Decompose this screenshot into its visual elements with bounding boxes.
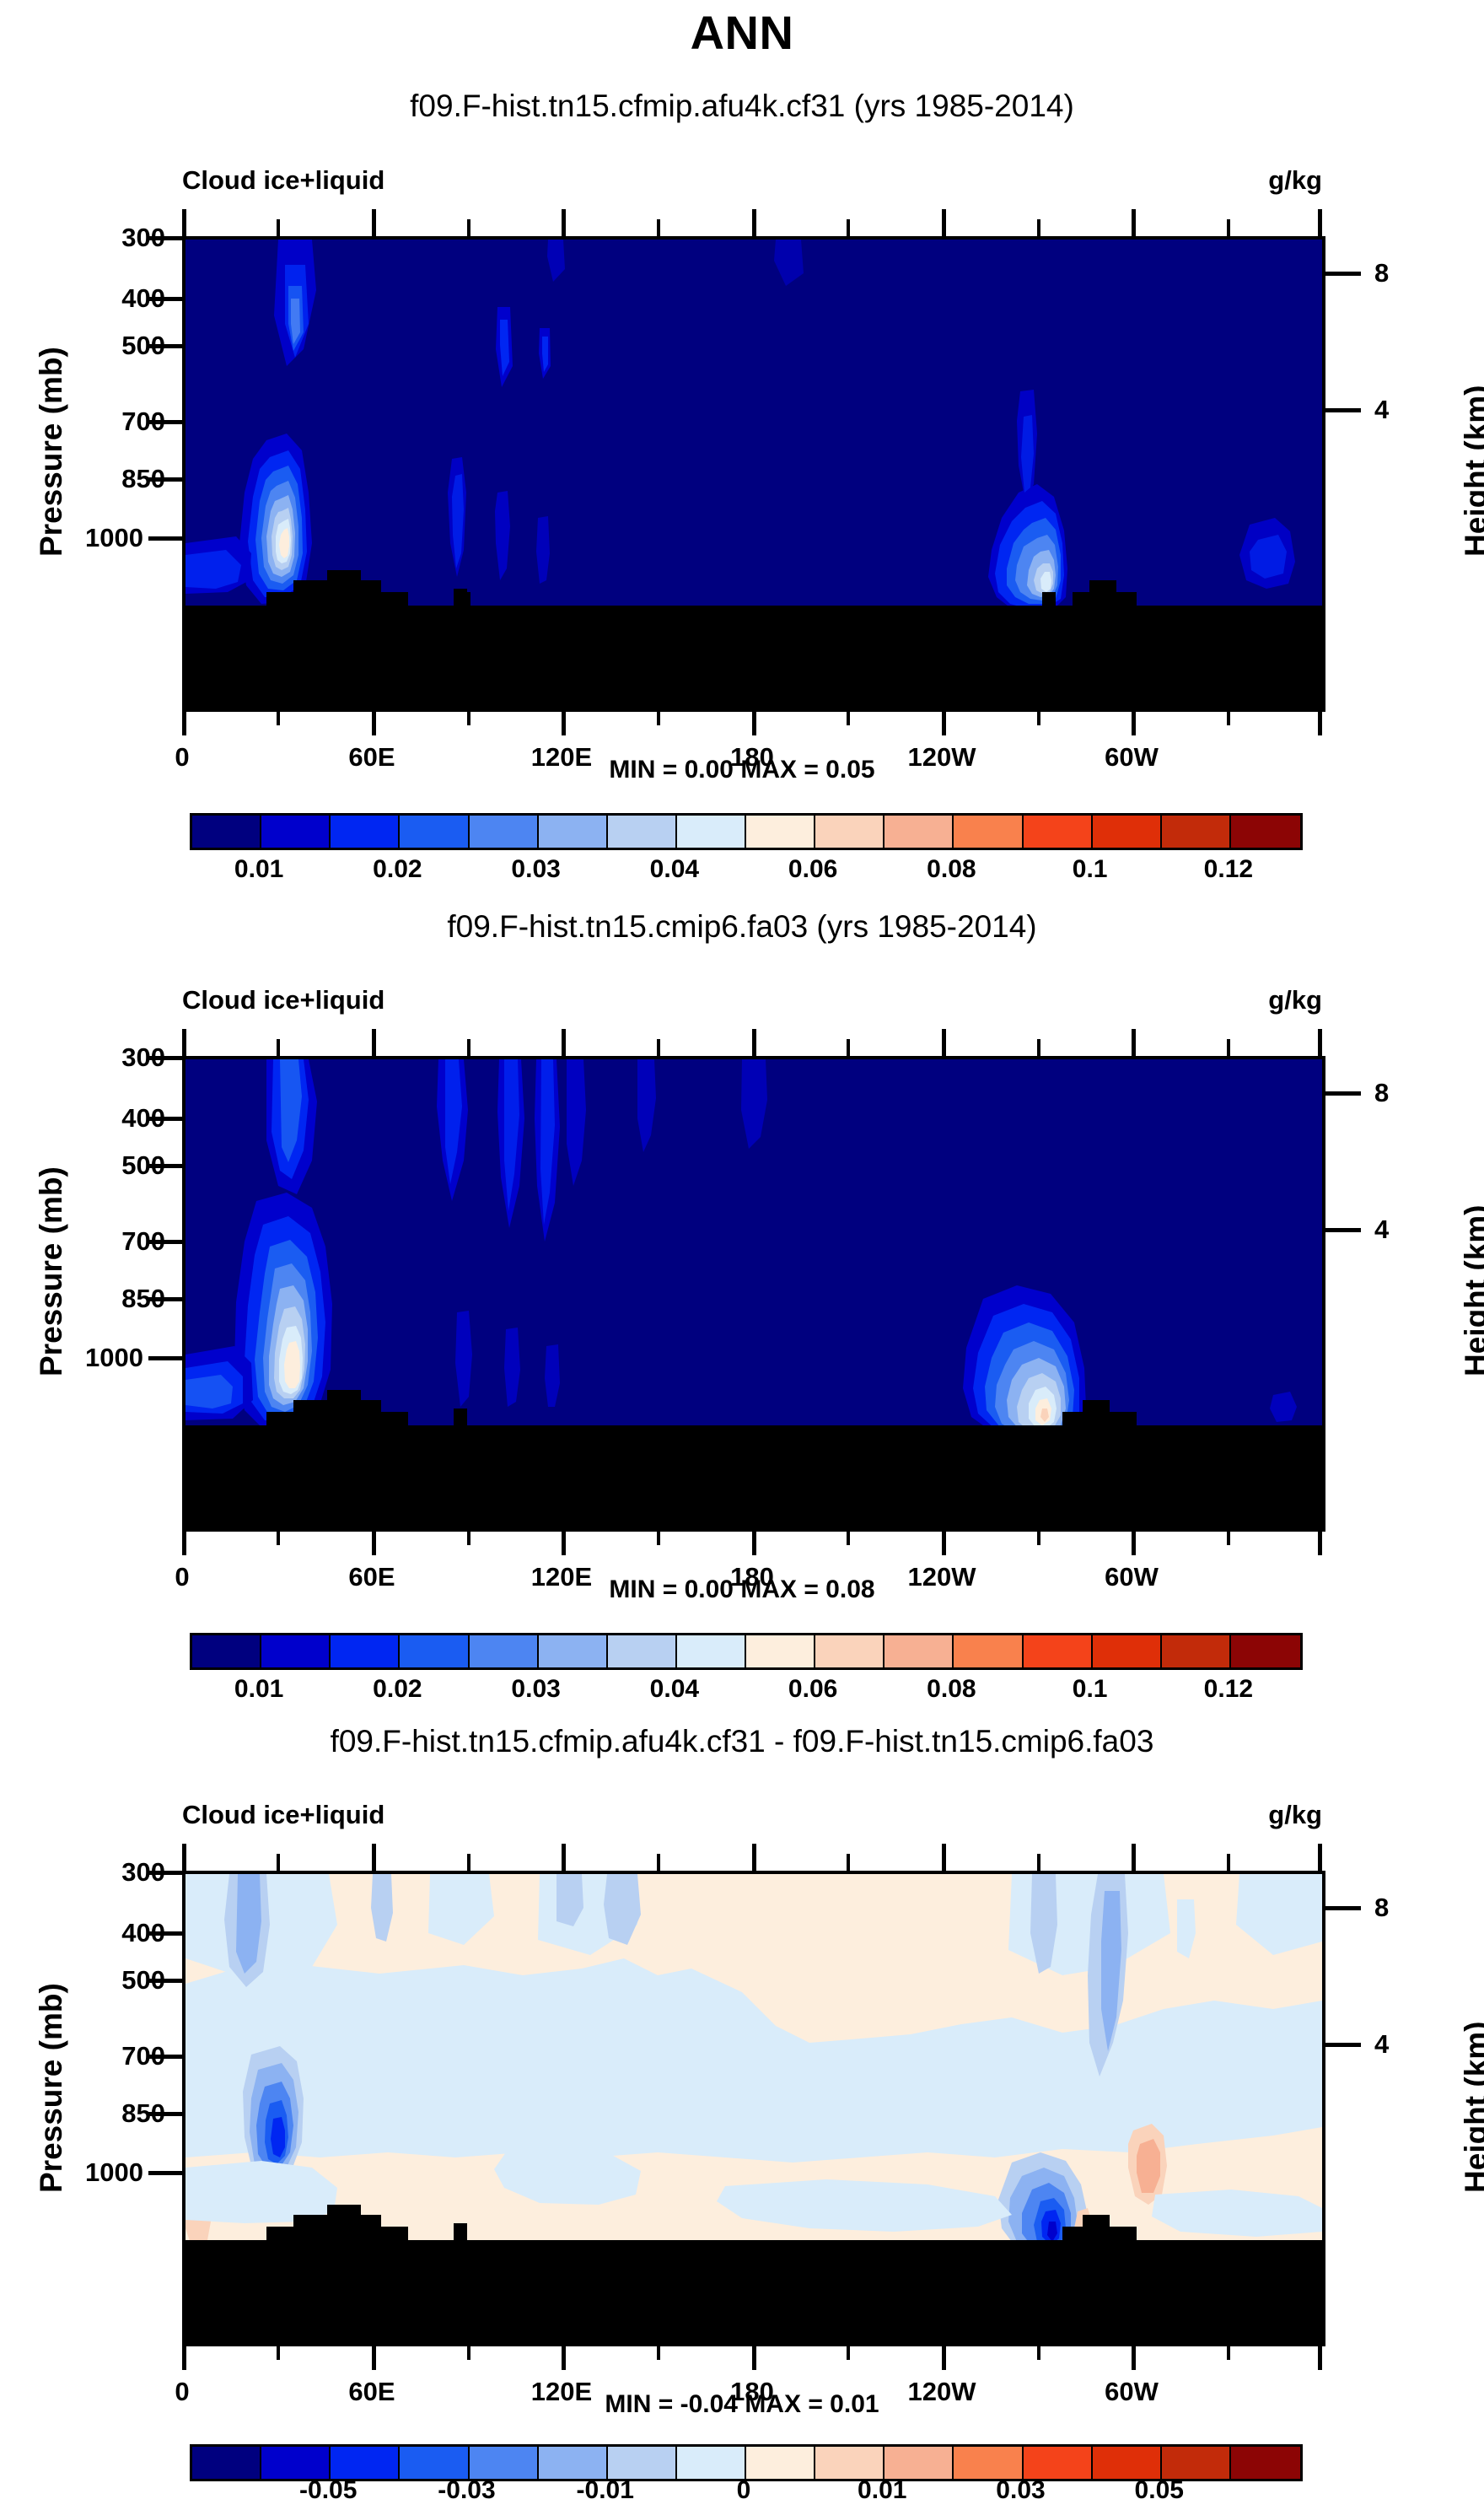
panel-2-ytick-height-4: 4	[1374, 1215, 1442, 1245]
panel-1-colorbar-swatch-14[interactable]	[1162, 816, 1231, 848]
panel-2-ytick-height-8: 8	[1374, 1078, 1442, 1108]
panel-1-minmax: MIN = 0.00 MAX = 0.05	[0, 756, 1484, 784]
panel-3-colorbar-labels: -0.05-0.03-0.0100.010.030.05	[0, 2476, 1484, 2510]
panel-1-ytick-1000: 1000	[51, 523, 143, 553]
panel-1-colorbar-tick-label: 0.03	[477, 855, 595, 884]
panel-3-colorbar-swatch-10[interactable]	[884, 2447, 954, 2479]
panel-2-colorbar-swatch-10[interactable]	[884, 1635, 954, 1667]
panel-1-colorbar-tick-label: 0.04	[616, 855, 734, 884]
panel-2-colorbar-tick-label: 0.06	[754, 1675, 872, 1704]
panel-2-colorbar-tick-label: 0.12	[1169, 1675, 1288, 1704]
panel-1-top-ticks	[182, 206, 1322, 236]
panel-2-colorbar-swatch-7[interactable]	[677, 1635, 746, 1667]
panel-1-colorbar-swatch-4[interactable]	[470, 816, 539, 848]
panel-2-colorbar-swatch-1[interactable]	[261, 1635, 331, 1667]
panel-3-units-label: g/kg	[0, 1800, 1322, 1830]
panel-3-colorbar-tick-label: -0.01	[546, 2476, 664, 2505]
panel-3-colorbar-swatch-11[interactable]	[954, 2447, 1023, 2479]
panel-3-colorbar-swatch-5[interactable]	[539, 2447, 608, 2479]
panel-3-colorbar-tick-label: 0.03	[962, 2476, 1080, 2505]
panel-2-colorbar-swatch-12[interactable]	[1024, 1635, 1093, 1667]
panel-1-colorbar-swatch-13[interactable]	[1093, 816, 1162, 848]
panel-3-colorbar-swatch-8[interactable]	[746, 2447, 815, 2479]
panel-2-colorbar-tick-label: 0.01	[200, 1675, 318, 1704]
panel-3-colorbar-swatch-1[interactable]	[261, 2447, 331, 2479]
panel-3-ytick-height-8: 8	[1374, 1893, 1442, 1923]
panel-1-colorbar-swatch-0[interactable]	[192, 816, 261, 848]
panel-2-colorbar[interactable]	[190, 1633, 1303, 1670]
panel-3-bottom-ticks	[182, 2343, 1322, 2373]
panel-3-colorbar-swatch-3[interactable]	[400, 2447, 469, 2479]
panel-2-left-ticks	[148, 1056, 185, 1528]
panel-2-colorbar-swatch-2[interactable]	[331, 1635, 400, 1667]
panel-3-colorbar-swatch-6[interactable]	[608, 2447, 677, 2479]
panel-2-colorbar-swatch-14[interactable]	[1162, 1635, 1231, 1667]
panel-3-colorbar-swatch-13[interactable]	[1093, 2447, 1162, 2479]
panel-2-top-ticks	[182, 1026, 1322, 1056]
panel-3-colorbar-swatch-12[interactable]	[1024, 2447, 1093, 2479]
panel-1-colorbar-tick-label: 0.1	[1031, 855, 1149, 884]
panel-3-ytick-1000: 1000	[51, 2157, 143, 2188]
panel-1-ytick-height-4: 4	[1374, 395, 1442, 425]
panel-2-colorbar-tick-label: 0.02	[338, 1675, 456, 1704]
panel-3-difference-field	[185, 1874, 1322, 2343]
panel-1-colorbar-swatch-7[interactable]	[677, 816, 746, 848]
panel-3-colorbar-tick-label: -0.03	[408, 2476, 526, 2505]
panel-3-ytick-height-4: 4	[1374, 2029, 1442, 2060]
panel-1-colorbar-swatch-12[interactable]	[1024, 816, 1093, 848]
panel-3-colorbar-swatch-2[interactable]	[331, 2447, 400, 2479]
panel-3-title: f09.F-hist.tn15.cfmip.afu4k.cf31 - f09.F…	[0, 1724, 1484, 1759]
panel-1-colorbar-swatch-3[interactable]	[400, 816, 469, 848]
panel-2-colorbar-swatch-5[interactable]	[539, 1635, 608, 1667]
panel-2-units-label: g/kg	[0, 985, 1322, 1015]
panel-2-colorbar-tick-label: 0.04	[616, 1675, 734, 1704]
panel-2-colorbar-tick-label: 0.03	[477, 1675, 595, 1704]
panel-2-yaxis-right-title: Height (km)	[1459, 1205, 1484, 1377]
panel-3-left-ticks	[148, 1871, 185, 2343]
panel-1-colorbar-swatch-1[interactable]	[261, 816, 331, 848]
panel-2-colorbar-swatch-6[interactable]	[608, 1635, 677, 1667]
page-title: ANN	[0, 5, 1484, 60]
panel-2-colorbar-swatch-11[interactable]	[954, 1635, 1023, 1667]
panel-1-colorbar-tick-label: 0.01	[200, 855, 318, 884]
panel-1-plot-area[interactable]	[182, 236, 1325, 712]
panel-2-colorbar-swatch-4[interactable]	[470, 1635, 539, 1667]
panel-2-title: f09.F-hist.tn15.cmip6.fa03 (yrs 1985-201…	[0, 909, 1484, 945]
panel-1-colorbar-swatch-8[interactable]	[746, 816, 815, 848]
panel-3-colorbar-swatch-0[interactable]	[192, 2447, 261, 2479]
panel-1-colorbar-swatch-2[interactable]	[331, 816, 400, 848]
panel-2-bottom-ticks	[182, 1528, 1322, 1559]
panel-3-right-ticks	[1325, 1871, 1363, 2343]
panel-2-colorbar-swatch-0[interactable]	[192, 1635, 261, 1667]
panel-2-right-ticks	[1325, 1056, 1363, 1528]
panel-3-colorbar-tick-label: 0.05	[1100, 2476, 1218, 2505]
panel-3-minmax: MIN = -0.04 MAX = 0.01	[0, 2390, 1484, 2419]
panel-1-colorbar-swatch-11[interactable]	[954, 816, 1023, 848]
panel-3-colorbar-swatch-7[interactable]	[677, 2447, 746, 2479]
panel-2-colorbar-labels: 0.010.020.030.040.060.080.10.12	[0, 1675, 1484, 1709]
panel-2-colorbar-swatch-3[interactable]	[400, 1635, 469, 1667]
panel-3-colorbar-swatch-14[interactable]	[1162, 2447, 1231, 2479]
panel-1-colorbar-swatch-9[interactable]	[815, 816, 884, 848]
panel-1-yaxis-right-title: Height (km)	[1459, 385, 1484, 557]
panel-3-plot-area[interactable]	[182, 1871, 1325, 2346]
panel-3-colorbar-swatch-4[interactable]	[470, 2447, 539, 2479]
panel-3-colorbar-tick-label: 0	[685, 2476, 803, 2505]
panel-1-bottom-ticks	[182, 708, 1322, 739]
panel-1-units-label: g/kg	[0, 165, 1322, 196]
panel-2-colorbar-swatch-9[interactable]	[815, 1635, 884, 1667]
panel-1-colorbar-tick-label: 0.06	[754, 855, 872, 884]
panel-2-colorbar-tick-label: 0.1	[1031, 1675, 1149, 1704]
panel-3-colorbar-tick-label: -0.05	[269, 2476, 387, 2505]
panel-1-contour-field	[185, 240, 1322, 708]
panel-2-ytick-1000: 1000	[51, 1343, 143, 1373]
panel-2-colorbar-swatch-13[interactable]	[1093, 1635, 1162, 1667]
panel-1-colorbar-tick-label: 0.12	[1169, 855, 1288, 884]
panel-1-colorbar-swatch-5[interactable]	[539, 816, 608, 848]
panel-3-colorbar-swatch-15[interactable]	[1231, 2447, 1300, 2479]
panel-1-right-ticks	[1325, 236, 1363, 708]
panel-2-colorbar-tick-label: 0.08	[892, 1675, 1010, 1704]
panel-3-colorbar-swatch-9[interactable]	[815, 2447, 884, 2479]
panel-2-contour-field	[185, 1059, 1322, 1528]
panel-3-yaxis-right-title: Height (km)	[1459, 2022, 1484, 2194]
panel-1-ytick-height-8: 8	[1374, 258, 1442, 288]
panel-1-colorbar-tick-label: 0.08	[892, 855, 1010, 884]
panel-1-title: f09.F-hist.tn15.cfmip.afu4k.cf31 (yrs 19…	[0, 89, 1484, 124]
panel-1-colorbar-tick-label: 0.02	[338, 855, 456, 884]
panel-1-colorbar[interactable]	[190, 813, 1303, 850]
panel-2-colorbar-swatch-8[interactable]	[746, 1635, 815, 1667]
panel-1-colorbar-swatch-6[interactable]	[608, 816, 677, 848]
panel-1-colorbar-swatch-10[interactable]	[884, 816, 954, 848]
panel-1-left-ticks	[148, 236, 185, 708]
panel-1-colorbar-swatch-15[interactable]	[1231, 816, 1300, 848]
panel-1-colorbar-labels: 0.010.020.030.040.060.080.10.12	[0, 855, 1484, 889]
panel-2-minmax: MIN = 0.00 MAX = 0.08	[0, 1575, 1484, 1604]
panel-3-top-ticks	[182, 1840, 1322, 1871]
panel-2-colorbar-swatch-15[interactable]	[1231, 1635, 1300, 1667]
panel-2-plot-area[interactable]	[182, 1056, 1325, 1532]
panel-3-colorbar-tick-label: 0.01	[823, 2476, 941, 2505]
